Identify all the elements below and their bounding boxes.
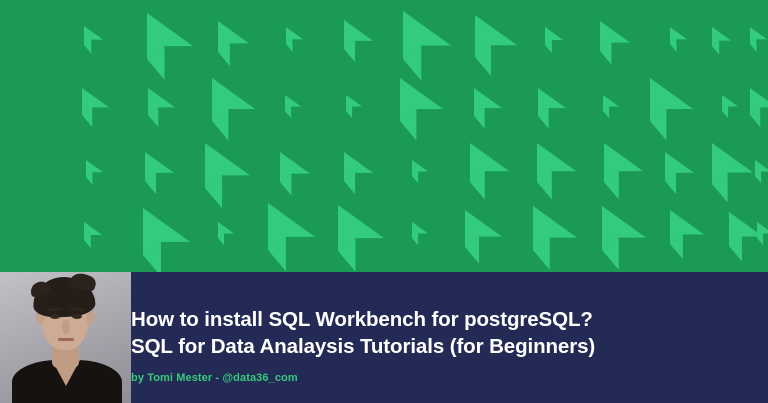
arrow-cursor-icon	[285, 95, 301, 118]
arrow-cursor-icon	[86, 160, 103, 185]
arrow-cursor-icon	[533, 206, 577, 270]
arrow-cursor-icon	[280, 152, 310, 196]
blog-post-thumbnail-card: How to install SQL Workbench for postgre…	[0, 0, 768, 403]
arrow-cursor-icon	[603, 95, 619, 118]
arrow-cursor-icon	[755, 160, 768, 183]
arrow-cursor-icon	[84, 222, 102, 248]
arrow-cursor-icon	[218, 222, 234, 245]
arrow-cursor-icon	[145, 152, 174, 194]
arrow-cursor-icon	[218, 21, 249, 66]
arrow-cursor-icon	[665, 152, 694, 194]
arrow-cursor-icon	[475, 15, 517, 76]
arrow-cursor-icon	[205, 143, 250, 208]
title-block: How to install SQL Workbench for postgre…	[131, 272, 768, 403]
arrow-cursor-icon	[286, 27, 303, 52]
arrow-cursor-icon	[412, 222, 428, 245]
arrow-cursor-icon	[600, 21, 630, 65]
arrow-cursor-icon	[212, 78, 255, 140]
arrow-cursor-icon	[722, 95, 738, 118]
pattern-banner	[0, 0, 768, 272]
portrait-eye-right	[72, 314, 82, 319]
arrow-cursor-icon	[84, 26, 103, 54]
arrow-cursor-icon	[650, 78, 693, 140]
arrow-cursor-icon	[470, 143, 509, 200]
arrow-cursor-icon	[400, 78, 443, 140]
arrow-cursor-icon	[412, 160, 428, 183]
arrow-cursor-icon	[537, 143, 576, 200]
author-photo	[0, 272, 131, 403]
arrow-cursor-icon	[712, 143, 753, 202]
portrait-nose	[62, 320, 70, 334]
post-title-line-1: How to install SQL Workbench for postgre…	[131, 308, 593, 332]
arrow-cursor-icon	[344, 152, 373, 194]
arrow-cursor-icon	[338, 205, 384, 272]
arrow-cursor-icon	[148, 88, 175, 127]
arrow-cursor-icon	[474, 88, 502, 129]
author-byline: by Tomi Mester - @data36_com	[131, 372, 298, 384]
arrow-cursor-icon	[538, 88, 566, 129]
arrow-cursor-icon	[403, 11, 451, 81]
arrow-cursor-icon	[344, 20, 373, 62]
arrow-cursor-icon	[143, 208, 190, 272]
arrow-cursor-icon	[545, 27, 563, 53]
arrow-cursor-icon	[750, 88, 768, 127]
arrow-cursor-icon	[268, 203, 315, 271]
arrow-cursor-icon	[757, 222, 768, 245]
post-title-line-2: SQL for Data Analaysis Tutorials (for Be…	[131, 335, 595, 359]
arrow-cursor-icon	[712, 27, 731, 55]
portrait-mouth	[58, 338, 74, 341]
arrow-cursor-icon	[670, 210, 704, 259]
arrow-cursor-icon	[670, 27, 687, 52]
arrow-cursor-icon	[82, 88, 109, 127]
arrow-cursor-icon	[465, 210, 502, 264]
arrow-cursor-icon	[602, 206, 646, 270]
author-portrait-figure	[0, 272, 131, 403]
arrow-cursor-icon	[346, 95, 362, 118]
arrow-cursor-icon	[147, 13, 193, 80]
arrow-cursor-icon	[604, 143, 643, 200]
arrow-cursor-icon	[750, 27, 767, 52]
portrait-eye-left	[50, 314, 60, 319]
